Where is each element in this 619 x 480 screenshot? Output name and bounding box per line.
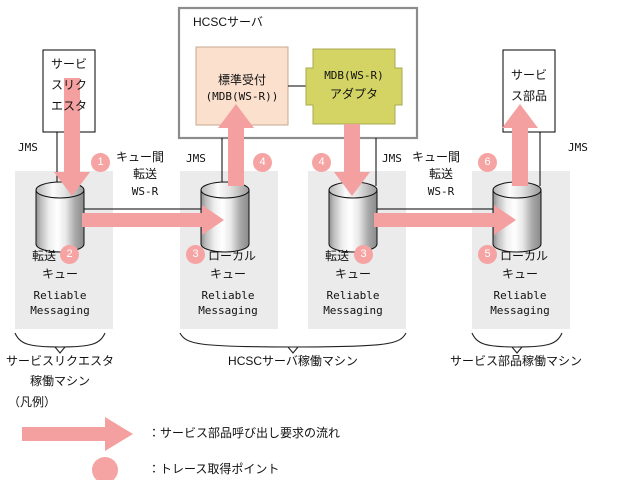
brace-hcsc-tip	[288, 347, 298, 353]
queue-2-rm-1: Reliable	[184, 290, 272, 302]
queue-3-rm-2: Messaging	[309, 305, 397, 317]
trace-point-2[interactable]: 2	[60, 245, 79, 264]
transfer-label-right-3: WS-R	[412, 186, 470, 198]
machine-label-requester-2: 稼働マシン	[2, 375, 118, 388]
queue-4-label-2: キュー	[482, 268, 558, 281]
queue-2-label-2: キュー	[190, 268, 266, 281]
legend-circle-icon	[92, 457, 118, 480]
queue-1-label-2: キュー	[22, 268, 98, 281]
queue-2-rm-2: Messaging	[184, 305, 272, 317]
trace-point-6[interactable]: 6	[478, 153, 497, 172]
trace-point-3b[interactable]: 3	[354, 245, 373, 264]
service-component-label-2: ス部品	[503, 90, 555, 103]
hcsc-server-title: HCSCサーバ	[193, 16, 263, 29]
machine-label-component: サービス部品稼働マシン	[440, 355, 592, 368]
queue-cylinder-1	[36, 182, 84, 252]
queue-1-rm-1: Reliable	[16, 290, 104, 302]
diagram-canvas: HCSCサーバ 標準受付 (MDB(WS-R)) MDB(WS-R) アダプタ …	[0, 0, 619, 480]
queue-4-rm-1: Reliable	[476, 290, 564, 302]
standard-reception-label-2: (MDB(WS-R))	[194, 91, 290, 103]
trace-point-4a[interactable]: 4	[253, 153, 272, 172]
queue-3-label-1: 転送	[325, 250, 349, 263]
brace-component-tip	[512, 347, 522, 353]
legend-item-arrow-text: ：サービス部品呼び出し要求の流れ	[148, 427, 340, 440]
standard-reception-label-1: 標準受付	[196, 74, 288, 87]
jms-label-3: JMS	[382, 153, 402, 165]
brace-component	[472, 333, 562, 347]
transfer-label-right-2: 転送	[412, 168, 470, 181]
service-requester-label-3: エスタ	[43, 100, 95, 113]
trace-point-4b[interactable]: 4	[312, 153, 331, 172]
jms-label-4: JMS	[568, 142, 588, 154]
transfer-label-left-3: WS-R	[116, 186, 174, 198]
brace-requester-tip	[55, 347, 65, 353]
transfer-label-left-1: キュー間	[116, 151, 164, 164]
jms-label-2: JMS	[186, 153, 206, 165]
queue-1-label-1: 転送	[32, 250, 56, 263]
service-requester-label-2: スリク	[43, 79, 95, 92]
machine-label-requester-1: サービスリクエスタ	[2, 355, 118, 368]
mdb-adapter-label-2: アダプタ	[313, 88, 395, 101]
queue-3-label-2: キュー	[315, 268, 391, 281]
trace-point-1[interactable]: 1	[91, 153, 110, 172]
transfer-label-right-1: キュー間	[412, 151, 460, 164]
legend-item-circle-text: ：トレース取得ポイント	[148, 463, 279, 476]
transfer-label-left-2: 転送	[116, 168, 174, 181]
queue-3-rm-1: Reliable	[309, 290, 397, 302]
queue-2-label-1: ローカル	[208, 250, 256, 263]
machine-label-hcsc: HCSCサーバ稼働マシン	[218, 355, 368, 368]
legend-title: （凡例）	[8, 396, 56, 409]
queue-4-label-1: ローカル	[500, 250, 548, 263]
mdb-adapter-label-1: MDB(WS-R)	[313, 70, 395, 82]
trace-point-3a[interactable]: 3	[186, 245, 205, 264]
queue-1-rm-2: Messaging	[16, 305, 104, 317]
legend-arrow-icon	[22, 417, 133, 451]
service-component-label-1: サービ	[503, 69, 555, 82]
trace-point-5[interactable]: 5	[478, 245, 497, 264]
brace-requester	[15, 333, 105, 347]
brace-hcsc	[180, 333, 406, 347]
queue-4-rm-2: Messaging	[476, 305, 564, 317]
jms-label-1: JMS	[18, 142, 38, 154]
machine-braces	[15, 333, 562, 353]
service-requester-label-1: サービ	[43, 58, 95, 71]
